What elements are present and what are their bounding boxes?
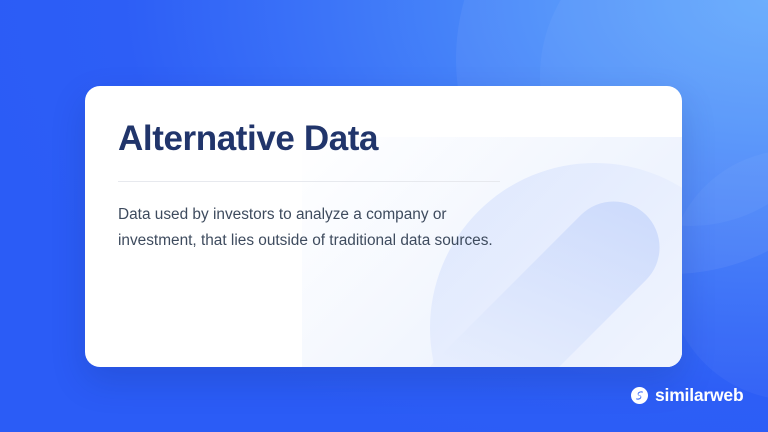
slide-canvas: Alternative Data Data used by investors … (0, 0, 768, 432)
definition-card: Alternative Data Data used by investors … (85, 86, 682, 367)
definition-text: Data used by investors to analyze a comp… (118, 202, 513, 255)
background-arc-small (668, 150, 768, 400)
title-divider (118, 181, 500, 182)
page-title: Alternative Data (118, 119, 682, 160)
similarweb-logo: similarweb (631, 387, 743, 405)
card-content: Alternative Data Data used by investors … (85, 86, 682, 255)
similarweb-swirl-icon (631, 387, 648, 404)
similarweb-wordmark: similarweb (655, 387, 743, 405)
